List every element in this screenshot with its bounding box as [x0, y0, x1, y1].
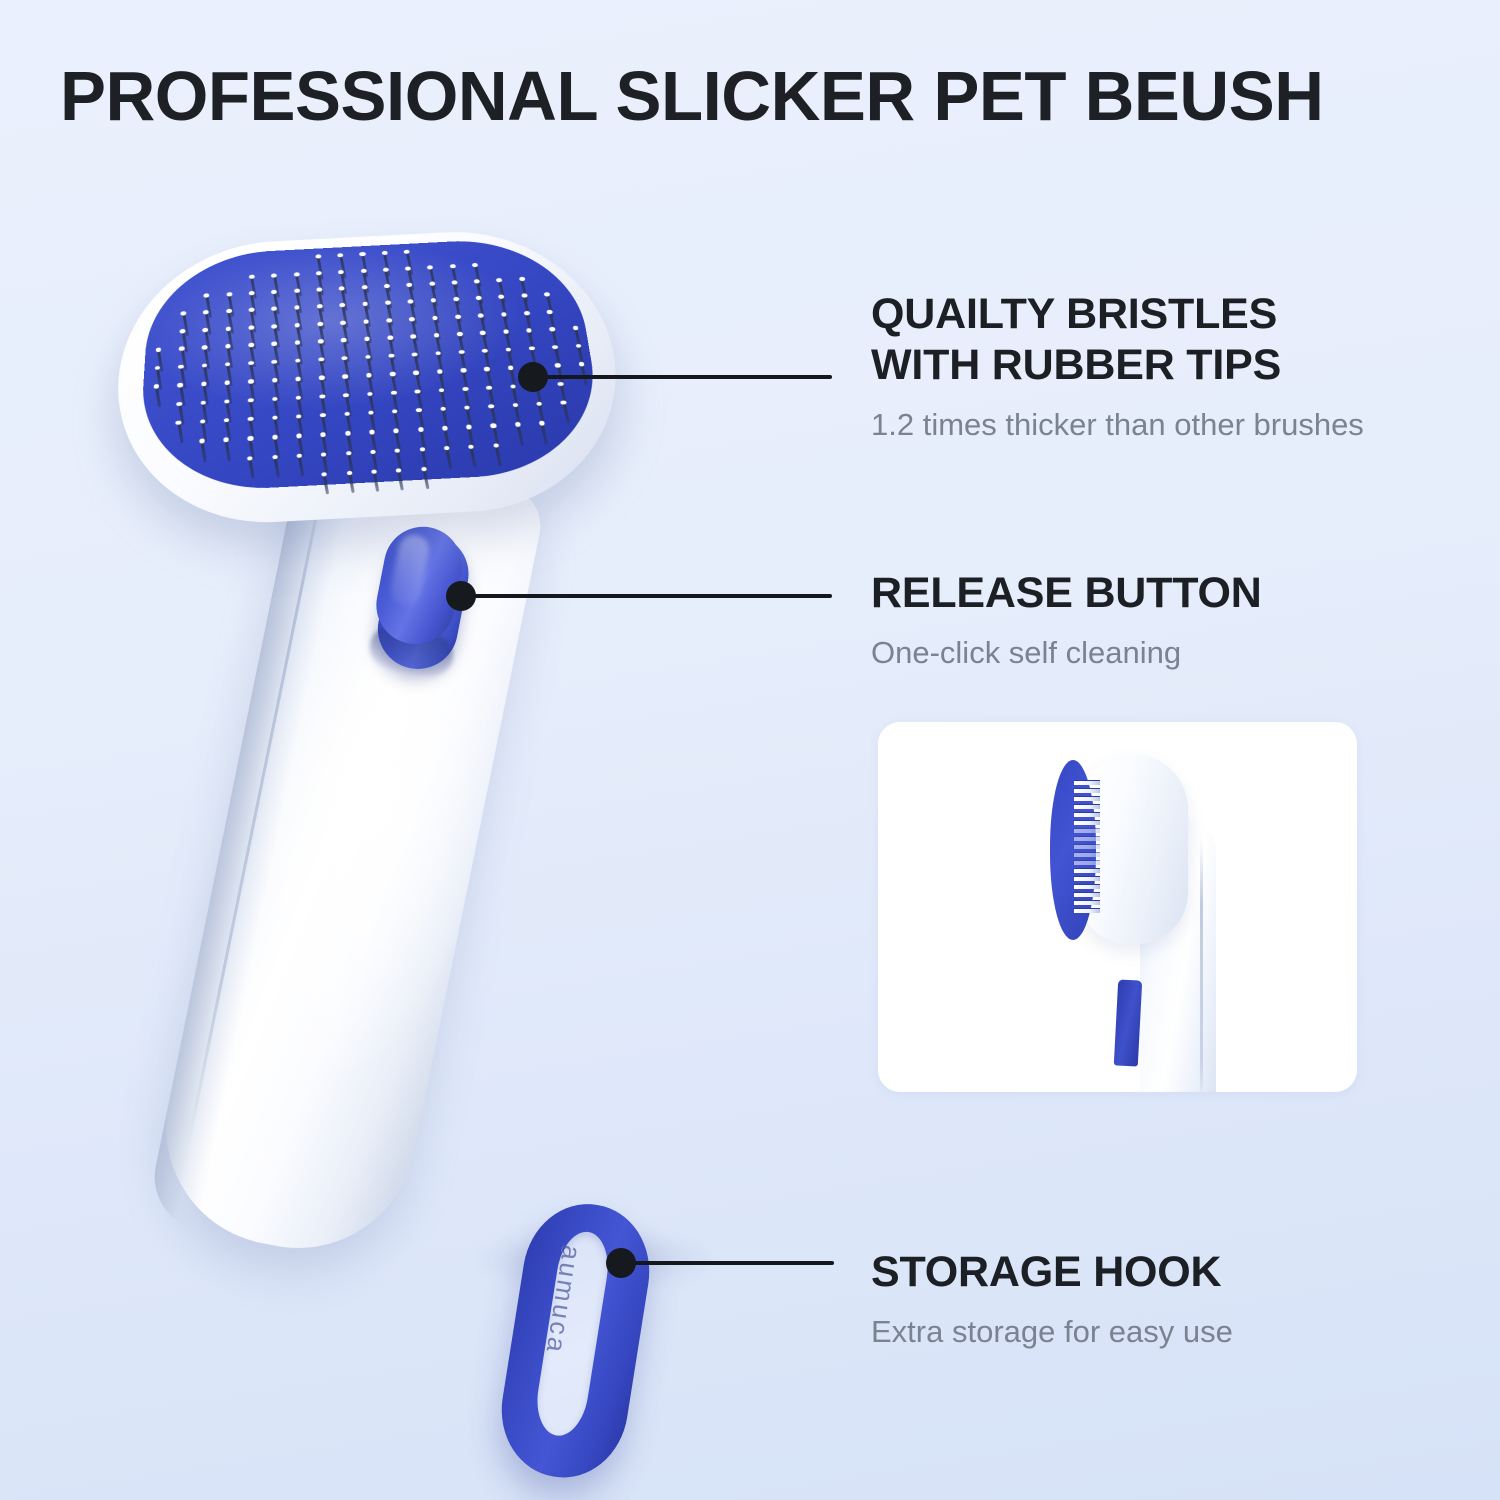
bristle-rubber-tip: [466, 425, 472, 429]
inset-pin: [1074, 860, 1100, 865]
bristle-rubber-tip: [451, 280, 457, 284]
bristle-pin: [470, 446, 477, 467]
inset-pin: [1074, 836, 1100, 841]
bristle-rubber-tip: [321, 432, 326, 436]
callout-quality-bristles: QUAILTY BRISTLES WITH RUBBER TIPS 1.2 ti…: [871, 289, 1364, 445]
bristle-pin: [249, 458, 255, 479]
bristle-rubber-tip: [204, 293, 210, 297]
bristle-rubber-tip: [319, 394, 325, 398]
bristle-rubber-tip: [226, 292, 232, 296]
bristle-rubber-tip: [271, 273, 277, 277]
bristle-rubber-tip: [361, 268, 367, 272]
bristle-rubber-tip: [345, 431, 350, 435]
product-illustration: aumuca: [0, 0, 860, 1500]
inset-pin: [1074, 812, 1100, 817]
bristle-rubber-tip: [524, 311, 530, 315]
bristle-rubber-tip: [391, 390, 397, 394]
bristle-rubber-tip: [248, 398, 253, 402]
bristle-rubber-tip: [317, 322, 323, 326]
bristle-rubber-tip: [179, 347, 185, 351]
bristle-rubber-tip: [406, 283, 412, 287]
bristle-pin: [225, 439, 231, 460]
bristle-rubber-tip: [369, 430, 375, 434]
bristle-rubber-tip: [386, 318, 392, 322]
inset-pin: [1074, 884, 1100, 889]
inset-pin: [1074, 900, 1100, 905]
brush-head: [87, 172, 645, 560]
bristle-rubber-tip: [549, 327, 555, 331]
bristle-rubber-tip: [384, 284, 390, 288]
bristle-rubber-tip: [539, 421, 545, 425]
bristle-rubber-tip: [460, 368, 466, 372]
bristle-pin: [562, 403, 570, 424]
bristle-rubber-tip: [318, 357, 324, 361]
bristle-rubber-tip: [394, 429, 400, 433]
bristle-rubber-tip: [437, 369, 443, 373]
bristle-pin: [298, 455, 305, 476]
bristle-rubber-tip: [496, 278, 502, 282]
inset-pin: [1074, 892, 1100, 897]
bristle-rubber-tip: [410, 334, 416, 338]
bristle-rubber-tip: [343, 374, 349, 378]
inset-pin: [1074, 828, 1100, 833]
bristle-rubber-tip: [389, 354, 395, 358]
bristle-rubber-tip: [450, 264, 456, 268]
bristle-rubber-tip: [223, 438, 228, 442]
bristle-rubber-tip: [199, 439, 204, 443]
bristle-rubber-tip: [390, 372, 396, 376]
bristle-rubber-tip: [387, 336, 393, 340]
inset-product-art: [878, 722, 1357, 1092]
bristle-rubber-tip: [272, 324, 277, 328]
callout-storage-hook: STORAGE HOOK Extra storage for easy use: [871, 1247, 1233, 1352]
bristle-rubber-tip: [501, 312, 507, 316]
bristle-rubber-tip: [558, 382, 564, 386]
callout-subtitle-bristles: 1.2 times thicker than other brushes: [871, 405, 1364, 445]
bristle-rubber-tip: [361, 285, 367, 289]
bristle-rubber-tip: [472, 263, 478, 267]
bristle-rubber-tip: [578, 362, 584, 366]
bristle-rubber-tip: [338, 270, 344, 274]
bristle-rubber-tip: [319, 375, 325, 379]
inset-pin: [1074, 788, 1100, 793]
bristle-rubber-tip: [360, 252, 366, 256]
bristle-rubber-tip: [382, 251, 388, 255]
callout-release-button: RELEASE BUTTON One-click self cleaning: [871, 568, 1262, 673]
bristle-rubber-tip: [493, 443, 499, 447]
bristle-pin: [445, 448, 452, 469]
bristle-rubber-tip: [249, 274, 255, 278]
callout-title-release: RELEASE BUTTON: [871, 568, 1262, 619]
callout-title-hook: STORAGE HOOK: [871, 1247, 1233, 1298]
inset-release-clip: [1114, 979, 1142, 1066]
bristle-rubber-tip: [503, 330, 509, 334]
bristle-rubber-tip: [444, 446, 450, 450]
bristle-pin: [541, 423, 549, 444]
bristle-rubber-tip: [366, 373, 372, 377]
bristle-rubber-tip: [295, 377, 300, 381]
bristle-rubber-tip: [383, 267, 389, 271]
callout-dot-release: [446, 581, 476, 611]
bristle-rubber-tip: [294, 272, 300, 276]
bristle-rubber-tip: [248, 379, 253, 383]
bristle-rubber-tip: [177, 383, 183, 387]
infographic-canvas: PROFESSIONAL SLICKER PET BEUSH aumuca: [0, 0, 1500, 1500]
bristle-rubber-tip: [429, 282, 435, 286]
bristle-rubber-tip: [340, 321, 346, 325]
inset-pin: [1074, 868, 1100, 873]
bristle-rubber-tip: [248, 436, 253, 440]
bristle-rubber-tip: [249, 325, 255, 329]
callout-dot-hook: [606, 1248, 636, 1278]
bristle-rubber-tip: [547, 310, 553, 314]
leader-line-release: [468, 594, 832, 598]
bristle-rubber-tip: [480, 331, 486, 335]
bristle-rubber-tip: [272, 378, 277, 382]
callout-subtitle-release: One-click self cleaning: [871, 633, 1262, 673]
inset-handle-seam: [1200, 840, 1203, 1092]
bristle-rubber-tip: [341, 338, 347, 342]
bristle-pin: [177, 423, 183, 444]
bristle-rubber-tip: [272, 455, 277, 459]
callout-title-bristles: QUAILTY BRISTLES WITH RUBBER TIPS: [871, 289, 1364, 391]
inset-pin: [1074, 796, 1100, 801]
inset-pin: [1074, 876, 1100, 881]
bristle-rubber-tip: [294, 323, 300, 327]
bristle-rubber-tip: [419, 447, 425, 451]
bristle-rubber-tip: [249, 343, 254, 347]
bristle-pin: [494, 445, 501, 466]
inset-photo-panel: [878, 722, 1357, 1092]
bristle-rubber-tip: [322, 472, 327, 476]
bristle-rubber-tip: [180, 329, 186, 333]
bristle-rubber-tip: [478, 313, 484, 317]
bristle-rubber-tip: [315, 254, 321, 258]
bristle-rubber-tip: [316, 287, 322, 291]
bristle-rubber-tip: [318, 339, 324, 343]
bristle-rubber-tip: [272, 435, 277, 439]
bristle-rubber-tip: [316, 271, 322, 275]
bristle-rubber-tip: [442, 426, 448, 430]
bristle-rubber-tip: [346, 451, 351, 455]
bristle-rubber-tip: [462, 387, 468, 391]
leader-line-hook: [630, 1261, 834, 1265]
bristle-rubber-tip: [343, 393, 349, 397]
bristle-pin: [273, 457, 279, 478]
inset-retracted-pins: [1074, 780, 1102, 914]
inset-pin: [1074, 852, 1100, 857]
inset-pin: [1074, 908, 1100, 913]
bristle-rubber-tip: [201, 382, 207, 386]
bristle-rubber-tip: [529, 346, 535, 350]
bristle-rubber-tip: [413, 371, 419, 375]
bristle-pin: [200, 441, 206, 462]
bristle-rubber-tip: [176, 402, 182, 406]
bristle-rubber-tip: [459, 350, 465, 354]
bristle-rubber-tip: [396, 468, 401, 472]
bristle-rubber-tip: [519, 277, 525, 281]
bristle-rubber-tip: [249, 291, 255, 295]
bristle-rubber-tip: [156, 348, 162, 352]
bristle-rubber-tip: [572, 326, 578, 330]
callout-dot-bristles: [518, 362, 548, 392]
bristle-rubber-tip: [474, 279, 480, 283]
bristle-rubber-tip: [432, 316, 438, 320]
leader-line-bristles: [540, 375, 832, 379]
callout-subtitle-hook: Extra storage for easy use: [871, 1312, 1233, 1352]
bristle-rubber-tip: [427, 265, 433, 269]
bristle-rubber-tip: [457, 332, 463, 336]
bristle-rubber-tip: [418, 427, 424, 431]
brush-handle: [143, 445, 547, 1279]
bristle-rubber-tip: [294, 289, 300, 293]
bristle-pin: [516, 424, 523, 445]
bristle-rubber-tip: [296, 434, 301, 438]
bristle-rubber-tip: [491, 424, 497, 428]
inset-pin: [1074, 780, 1100, 785]
bristle-rubber-tip: [409, 317, 415, 321]
bristle-rubber-tip: [405, 266, 411, 270]
bristle-rubber-tip: [555, 363, 561, 367]
inset-pin: [1074, 804, 1100, 809]
inset-pin: [1074, 820, 1100, 825]
bristle-rubber-tip: [455, 314, 461, 318]
bristle-rubber-tip: [484, 367, 490, 371]
inset-pin: [1074, 844, 1100, 849]
bristle-rubber-tip: [415, 389, 421, 393]
bristle-rubber-tip: [508, 366, 514, 370]
bristle-rubber-tip: [363, 319, 369, 323]
bristle-rubber-tip: [486, 385, 492, 389]
bristle-rubber-tip: [515, 422, 521, 426]
